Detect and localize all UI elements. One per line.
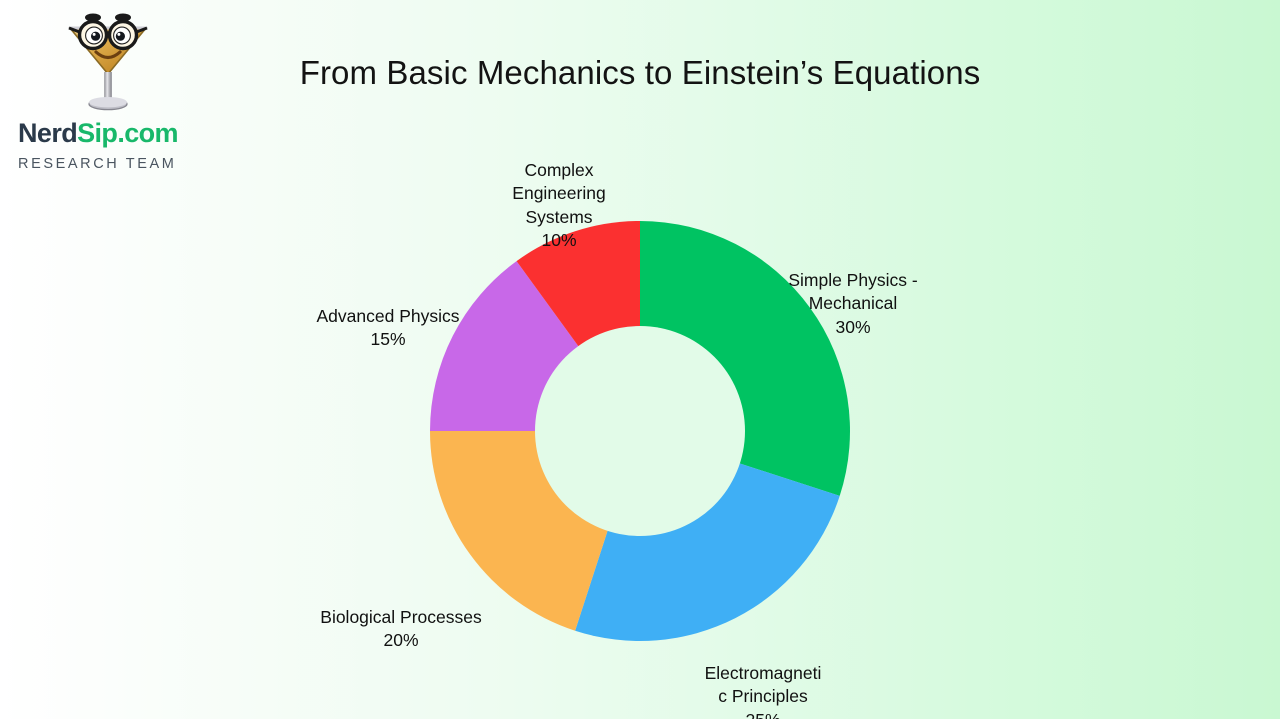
slice-label-simple-physics-mechanical: Simple Physics - Mechanical 30% — [762, 245, 944, 363]
slice-label-value: 10% — [468, 229, 650, 253]
slice-label-name: Complex Engineering Systems — [512, 160, 605, 227]
slice-label-name: Biological Processes — [320, 607, 481, 627]
slice-label-name: Electromagneti c Principles — [705, 663, 822, 707]
slice-label-complex-engineering-systems: Complex Engineering Systems 10% — [468, 135, 650, 276]
slice-label-biological-processes: Biological Processes 20% — [310, 582, 492, 676]
slice-label-value: 15% — [297, 328, 479, 352]
logo-wordmark-accent: Sip.com — [77, 118, 178, 148]
logo-subtitle: RESEARCH TEAM — [18, 156, 248, 172]
slice-label-value: 20% — [310, 629, 492, 653]
slice-label-value: 25% — [672, 709, 854, 719]
slide-canvas: NerdSip.com RESEARCH TEAM From Basic Mec… — [0, 0, 1280, 719]
logo-wordmark: NerdSip.com — [18, 118, 248, 149]
logo-wordmark-primary: Nerd — [18, 118, 77, 148]
slice-label-name: Advanced Physics — [317, 306, 460, 326]
page-title: From Basic Mechanics to Einstein’s Equat… — [0, 54, 1280, 92]
donut-hole — [535, 326, 745, 536]
slice-label-value: 30% — [762, 316, 944, 340]
slice-label-advanced-physics: Advanced Physics 15% — [297, 281, 479, 375]
slice-label-electromagnetic-principles: Electromagneti c Principles 25% — [672, 638, 854, 719]
slice-label-name: Simple Physics - Mechanical — [788, 270, 917, 314]
